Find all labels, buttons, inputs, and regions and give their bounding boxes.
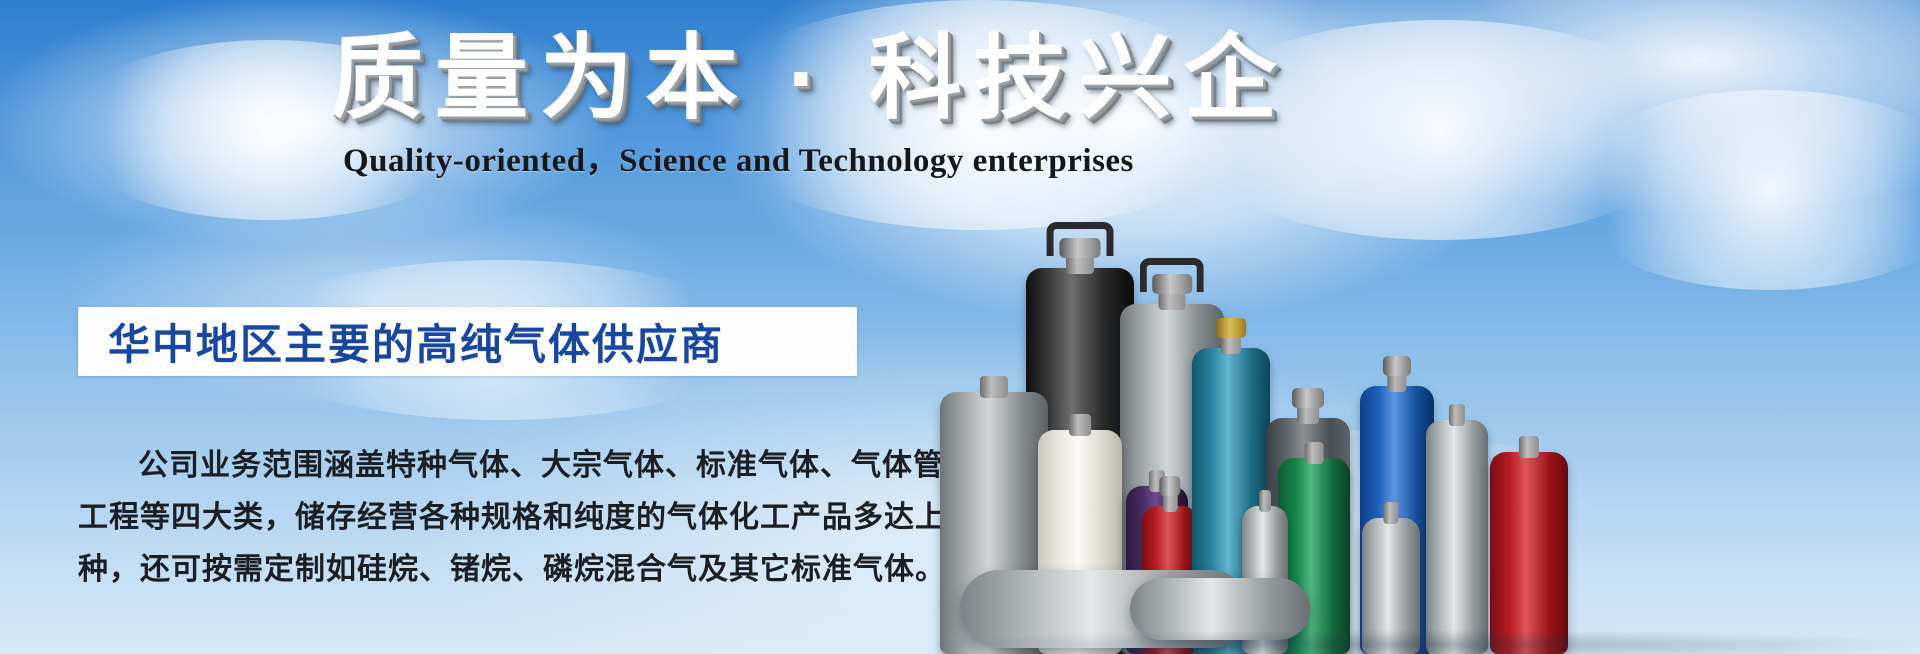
- gas-cylinders-photo: [930, 150, 1920, 654]
- cylinder-shadow: [930, 630, 1920, 654]
- banner-headline: 质量为本 · 科技兴企: [330, 22, 1260, 135]
- cylinder-red: [1490, 452, 1568, 654]
- promotional-banner: 质量为本 · 科技兴企 Quality-oriented，Science and…: [0, 0, 1920, 654]
- description-line-1: 公司业务范围涵盖特种气体、大宗气体、标准气体、气体管道: [78, 440, 868, 492]
- description-line-2: 工程等四大类，储存经营各种规格和纯度的气体化工产品多达上百: [78, 492, 868, 544]
- description-line-3: 种，还可按需定制如硅烷、锗烷、磷烷混合气及其它标准气体。: [78, 544, 868, 596]
- highlight-box: 华中地区主要的高纯气体供应商: [78, 307, 857, 376]
- cylinder-silver-tall: [1426, 420, 1488, 654]
- highlight-box-text: 华中地区主要的高纯气体供应商: [78, 311, 724, 372]
- banner-description: 公司业务范围涵盖特种气体、大宗气体、标准气体、气体管道 工程等四大类，储存经营各…: [78, 440, 868, 596]
